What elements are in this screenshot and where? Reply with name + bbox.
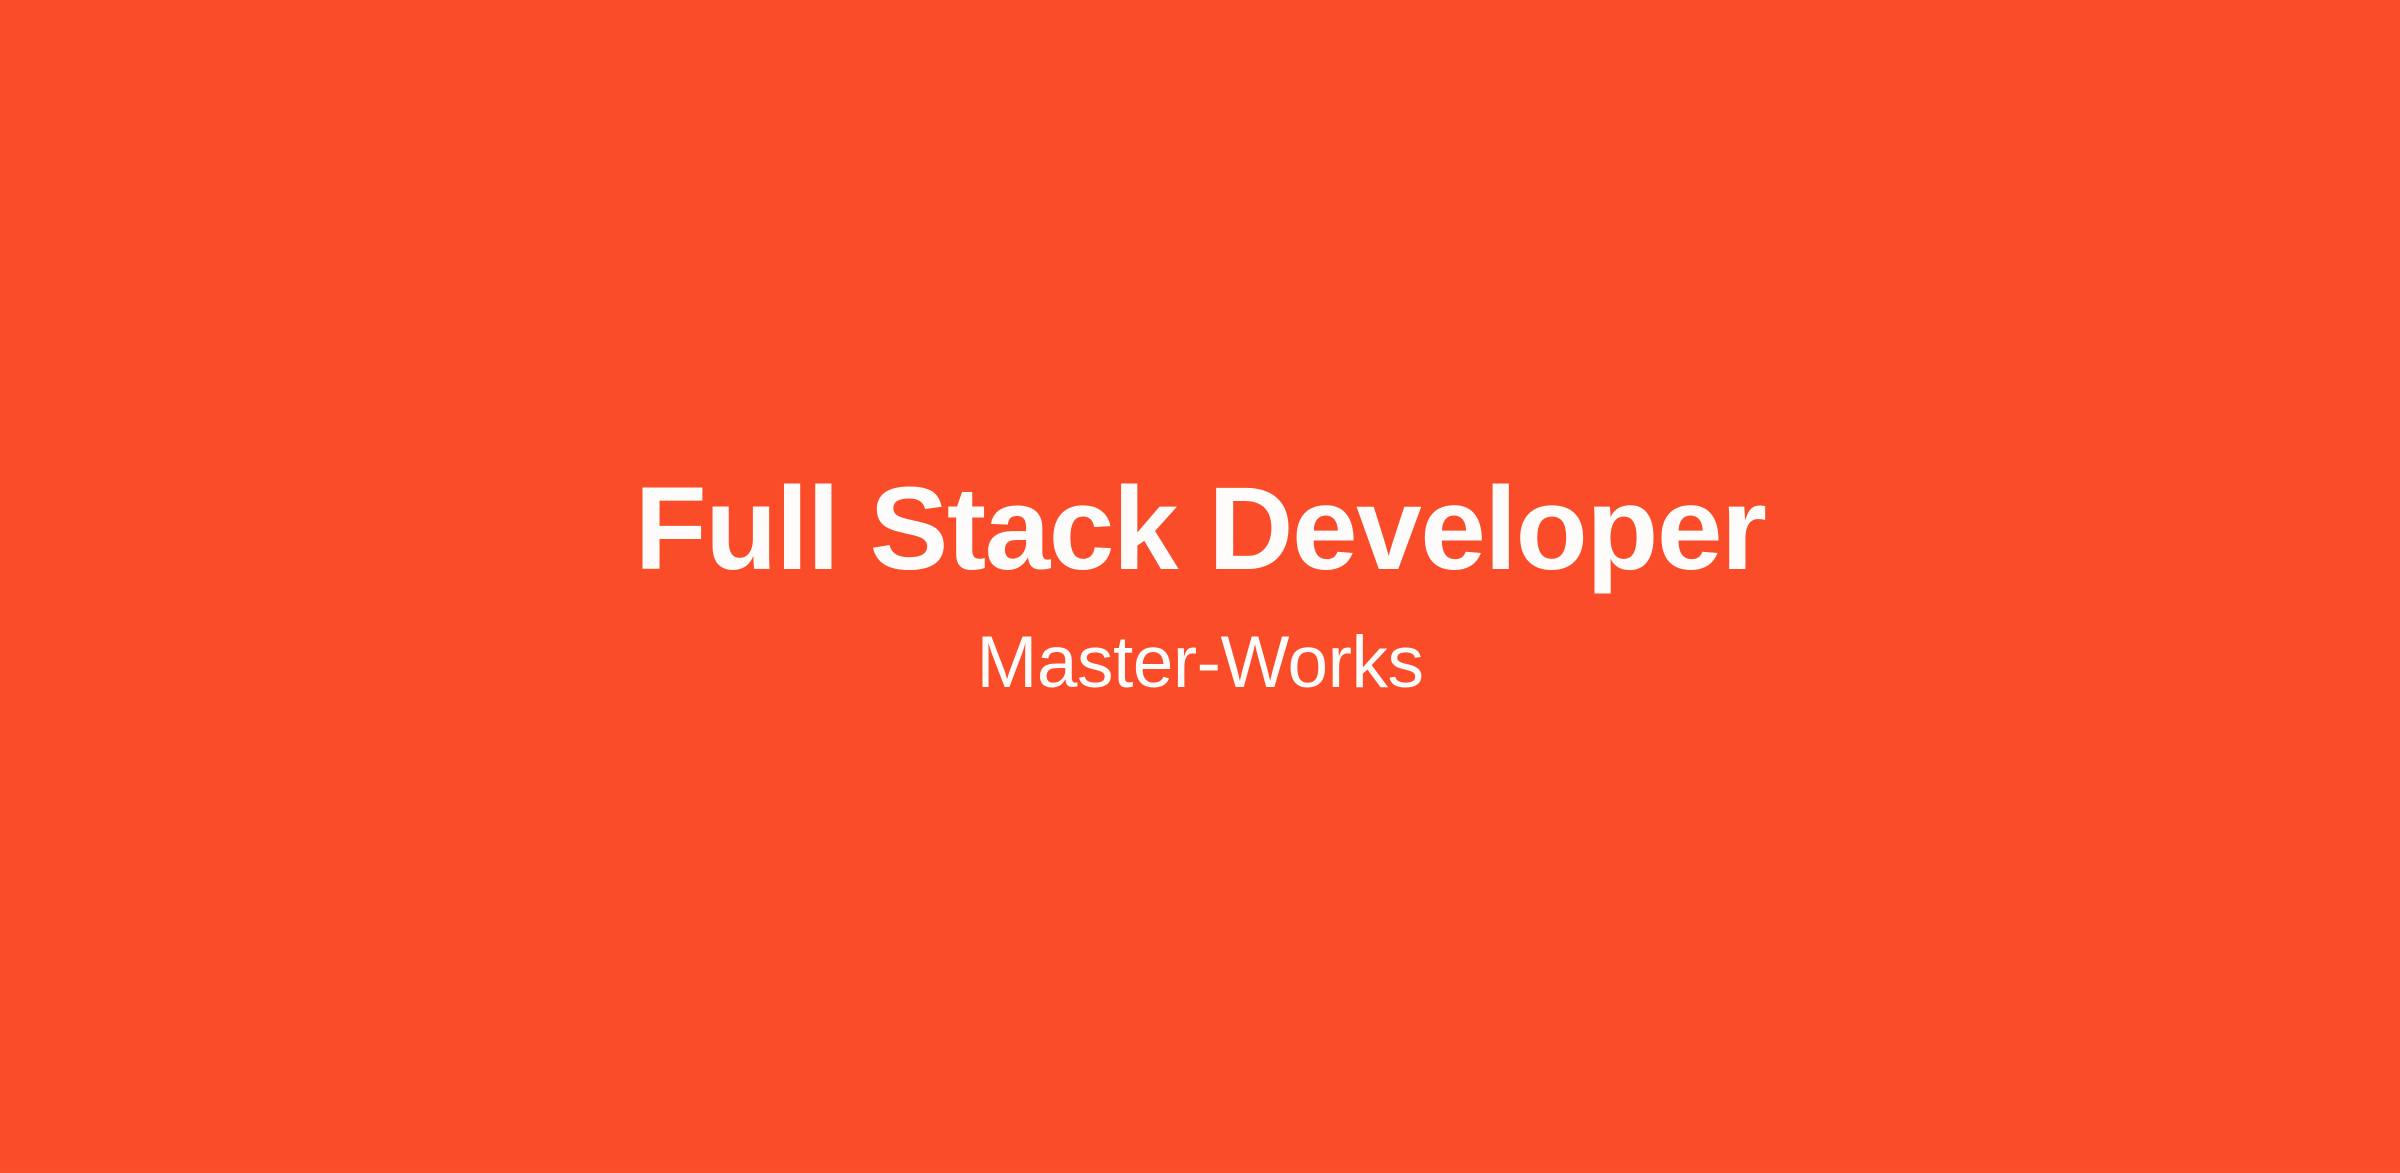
hero-content: Full Stack Developer Master-Works	[0, 470, 2400, 699]
page-title: Full Stack Developer	[635, 470, 1766, 588]
hero-banner: Full Stack Developer Master-Works	[0, 0, 2400, 1173]
bottom-edge-strip	[0, 1167, 2400, 1173]
page-subtitle: Master-Works	[977, 626, 1424, 699]
